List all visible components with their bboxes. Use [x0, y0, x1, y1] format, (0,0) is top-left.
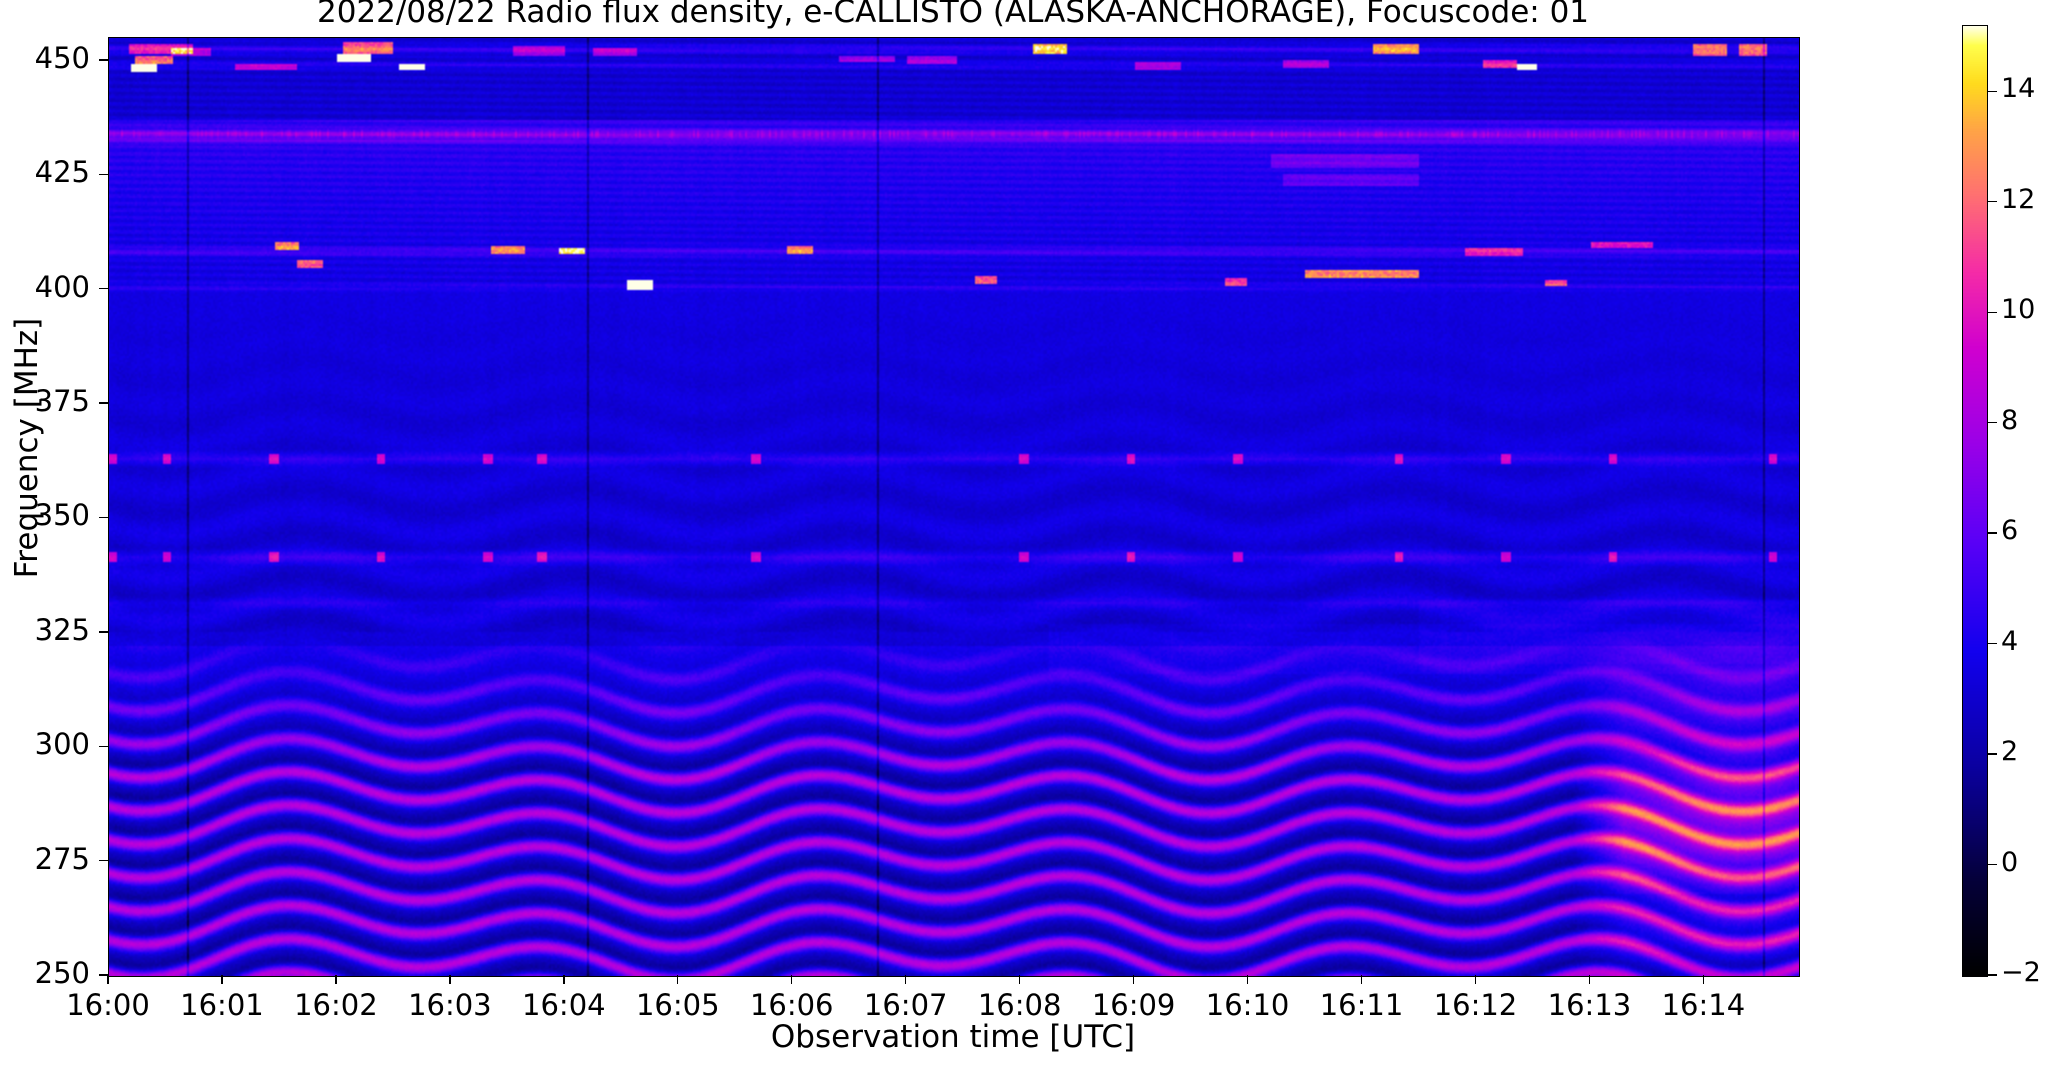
- x-tick-mark: [563, 975, 564, 984]
- y-tick-mark: [99, 288, 108, 289]
- x-axis-label: Observation time [UTC]: [108, 1019, 1798, 1055]
- y-axis-label: Frequency [MHz]: [9, 178, 45, 718]
- x-tick-mark: [1475, 975, 1476, 984]
- colorbar-gradient: [1963, 26, 1987, 976]
- colorbar-tick-label: 10: [2001, 294, 2035, 325]
- colorbar-tick-mark: [1988, 753, 1997, 754]
- y-tick-mark: [99, 517, 108, 518]
- y-tick-mark: [99, 860, 108, 861]
- colorbar-tick-label: 6: [2001, 515, 2018, 546]
- x-tick-mark: [1703, 975, 1704, 984]
- x-tick-mark: [1247, 975, 1248, 984]
- colorbar-tick-mark: [1988, 91, 1997, 92]
- colorbar-tick-label: 0: [2001, 847, 2018, 878]
- x-tick-mark: [1361, 975, 1362, 984]
- colorbar-tick-mark: [1988, 201, 1997, 202]
- colorbar-tick-mark: [1988, 532, 1997, 533]
- colorbar-tick-mark: [1988, 974, 1997, 975]
- figure-root: 2022/08/22 Radio flux density, e-CALLIST…: [0, 0, 2066, 1067]
- spectrogram-plot-area: [108, 37, 1800, 977]
- colorbar-tick-label: 14: [2001, 73, 2035, 104]
- colorbar: [1962, 25, 1988, 977]
- colorbar-tick-label: 2: [2001, 736, 2018, 767]
- colorbar-tick-label: 4: [2001, 626, 2018, 657]
- colorbar-tick-label: −2: [2001, 957, 2041, 988]
- y-tick-mark: [99, 746, 108, 747]
- colorbar-tick-label: 12: [2001, 184, 2035, 215]
- x-tick-mark: [677, 975, 678, 984]
- figure-title: 2022/08/22 Radio flux density, e-CALLIST…: [108, 0, 1798, 30]
- colorbar-tick-mark: [1988, 864, 1997, 865]
- x-tick-label: 16:14: [1633, 988, 1773, 1022]
- colorbar-tick-label: 8: [2001, 405, 2018, 436]
- y-tick-mark: [99, 402, 108, 403]
- y-tick-label: 275: [0, 842, 90, 876]
- x-tick-mark: [449, 975, 450, 984]
- x-tick-mark: [107, 975, 108, 984]
- x-tick-mark: [1133, 975, 1134, 984]
- y-tick-label: 250: [0, 956, 90, 990]
- colorbar-tick-mark: [1988, 422, 1997, 423]
- x-tick-mark: [1019, 975, 1020, 984]
- colorbar-tick-mark: [1988, 312, 1997, 313]
- spectrogram-image: [109, 38, 1799, 976]
- colorbar-tick-mark: [1988, 643, 1997, 644]
- y-tick-mark: [99, 59, 108, 60]
- x-tick-mark: [905, 975, 906, 984]
- x-tick-mark: [221, 975, 222, 984]
- y-tick-label: 450: [0, 41, 90, 75]
- y-tick-mark: [99, 631, 108, 632]
- x-tick-mark: [335, 975, 336, 984]
- y-tick-label: 300: [0, 727, 90, 761]
- x-tick-mark: [791, 975, 792, 984]
- y-tick-mark: [99, 174, 108, 175]
- x-tick-mark: [1589, 975, 1590, 984]
